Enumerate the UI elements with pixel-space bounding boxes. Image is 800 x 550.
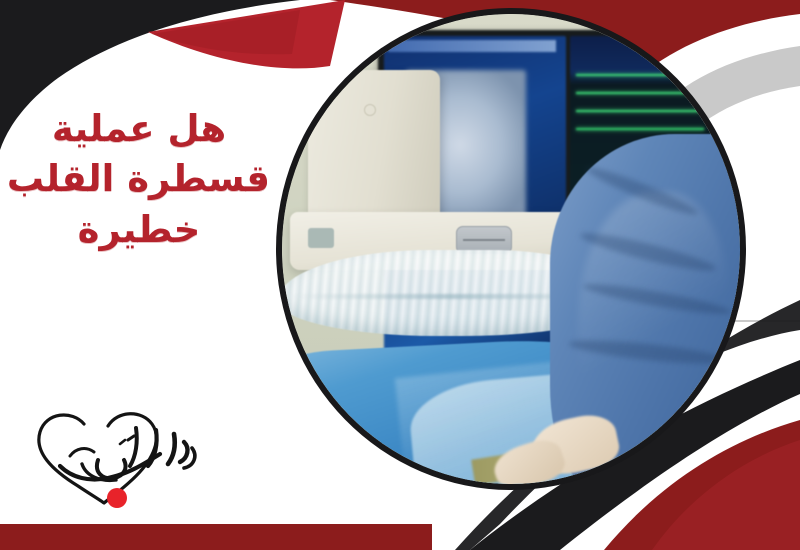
headline: هل عملية قسطرة القلب خطيرة <box>8 104 270 255</box>
headline-line-1: هل عملية <box>8 104 270 154</box>
ecg-trace <box>576 92 714 94</box>
logo-arabic-calligraphy <box>60 428 195 480</box>
ecg-trace <box>576 128 704 130</box>
headline-line-2: قسطرة القلب <box>8 154 270 204</box>
headline-line-3: خطيرة <box>8 205 270 255</box>
ecg-trace <box>576 110 728 112</box>
hero-photo-circle <box>276 8 746 490</box>
hero-photo-image <box>282 14 740 484</box>
logo-mark <box>24 404 214 508</box>
brand-logo[interactable] <box>24 404 214 508</box>
top-left-red-ribbon-shadow <box>152 10 300 54</box>
monitor-toolbar <box>388 40 556 52</box>
promo-banner: هل عملية قسطرة القلب خطيرة <box>0 0 800 550</box>
ecg-trace <box>576 74 726 76</box>
c-arm-column <box>308 70 440 230</box>
c-arm-knob <box>364 104 376 116</box>
bottom-red-bar <box>0 524 432 550</box>
c-arm-side-module <box>308 228 334 248</box>
red-dot-icon <box>107 488 127 508</box>
